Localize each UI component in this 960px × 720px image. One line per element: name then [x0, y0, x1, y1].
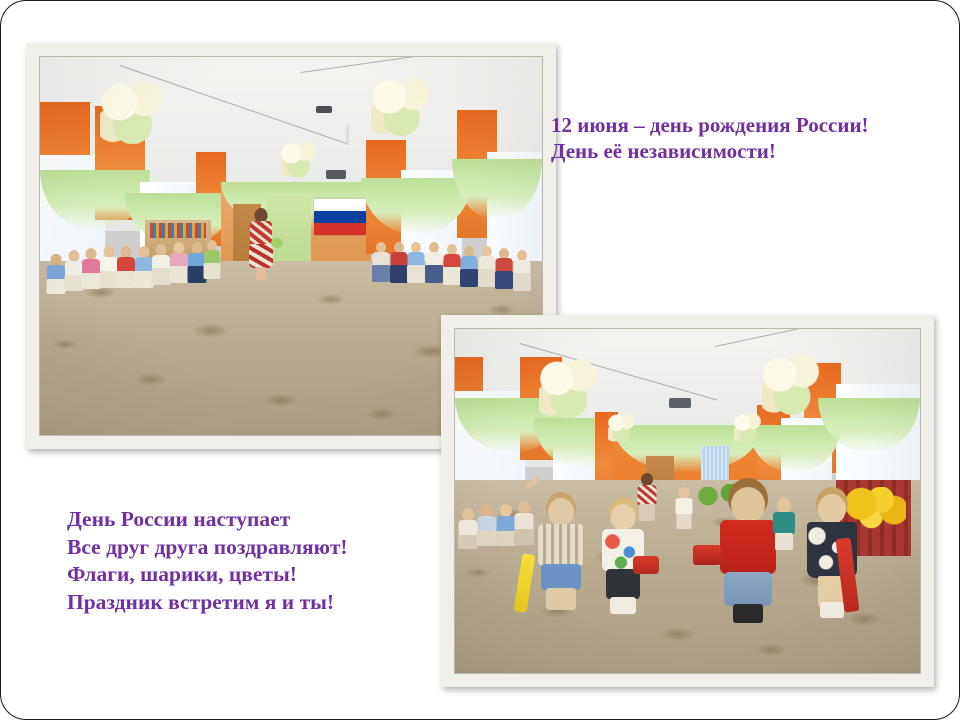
- poem-text: День России наступает Все друг друга поз…: [67, 506, 457, 616]
- title-text: 12 июня – день рождения России! День её …: [551, 113, 951, 164]
- photo-frame-hall-dance[interactable]: [441, 315, 934, 687]
- photo-image-hall-dance: [454, 328, 921, 674]
- slide-canvas: 12 июня – день рождения России! День её …: [0, 0, 960, 720]
